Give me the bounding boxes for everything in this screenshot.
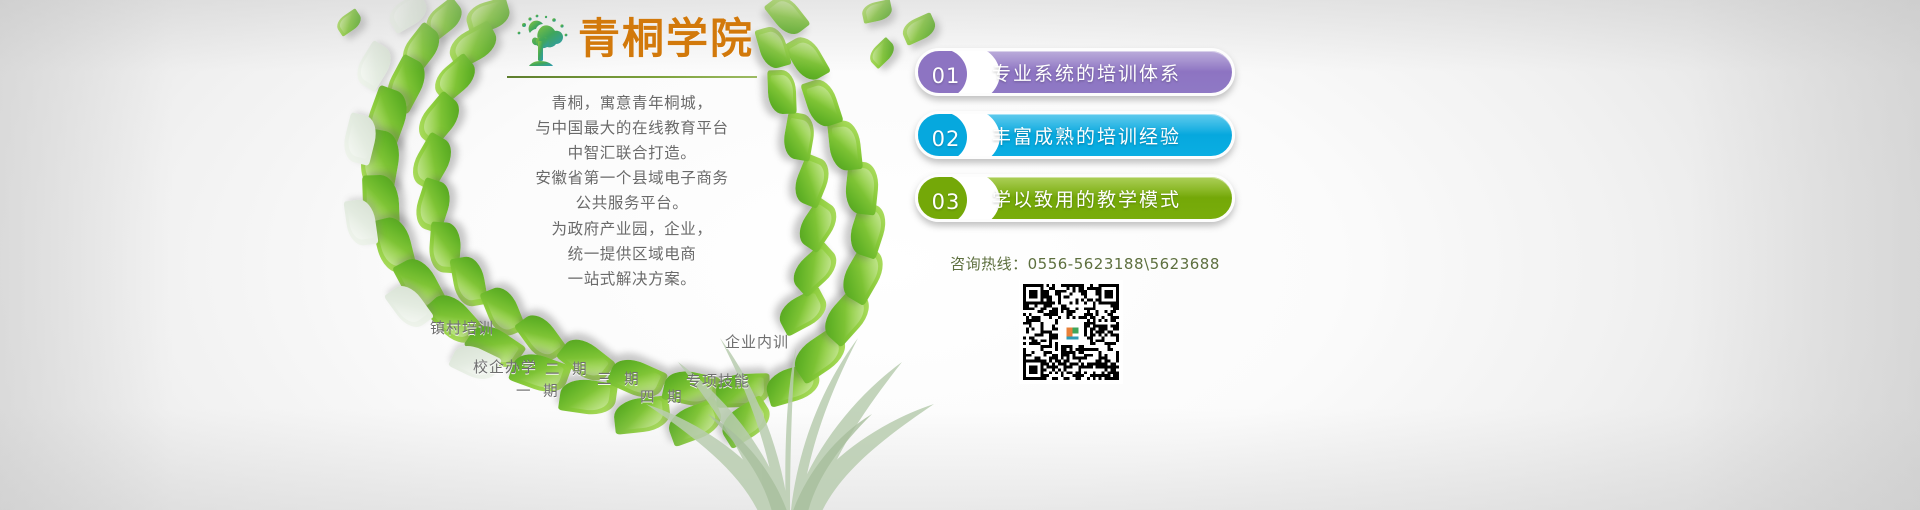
feature-item-03[interactable]: 03 学以致用的教学模式 [915, 174, 1235, 222]
promo-banner: 青桐学院 青桐，寓意青年桐城， 与中国最大的在线教育平台 中智汇联合打造。 安徽… [0, 0, 1920, 510]
stage-label-4: 三 期 [597, 368, 643, 389]
feature-label: 专业系统的培训体系 [992, 59, 1181, 86]
feature-number: 01 [926, 58, 966, 94]
wechat-qr-code[interactable] [1019, 280, 1123, 384]
leaf-icon [860, 0, 893, 24]
page-title: 青桐学院 [578, 18, 754, 60]
grass-tuft-icon [560, 330, 1020, 510]
leaf-icon [827, 119, 863, 172]
feature-number: 03 [926, 184, 966, 220]
stage-label-1: 校企办学 [473, 356, 537, 377]
stage-label-6: 专项技能 [686, 370, 750, 391]
feature-label: 丰富成熟的培训经验 [992, 122, 1181, 149]
stage-label-5: 四 期 [640, 386, 686, 407]
brand-block: 青桐学院 青桐，寓意青年桐城， 与中国最大的在线教育平台 中智汇联合打造。 安徽… [498, 8, 766, 292]
feature-list: 01 专业系统的培训体系 02 丰富成熟的培训经验 03 学以致用的教学模式 [915, 48, 1235, 237]
qr-canvas [1023, 284, 1119, 380]
stage-label-7: 企业内训 [725, 331, 789, 352]
stage-label-3: 二 期 [545, 358, 591, 379]
feature-item-01[interactable]: 01 专业系统的培训体系 [915, 48, 1235, 96]
brand-description: 青桐，寓意青年桐城， 与中国最大的在线教育平台 中智汇联合打造。 安徽省第一个县… [498, 91, 766, 292]
leaf-icon [767, 70, 797, 115]
feature-number: 02 [926, 121, 966, 157]
stage-label-2: 一 期 [516, 380, 562, 401]
hotline-text: 咨询热线：0556-5623188\5623688 [915, 253, 1255, 274]
leaf-icon [789, 153, 835, 209]
stage-label-0: 镇村培训 [430, 317, 494, 338]
feature-label: 学以致用的教学模式 [992, 185, 1181, 212]
leaf-icon [899, 12, 939, 46]
leaf-icon [866, 37, 899, 69]
title-divider [507, 76, 757, 78]
feature-item-02[interactable]: 02 丰富成熟的培训经验 [915, 111, 1235, 159]
tree-logo-icon [510, 11, 572, 67]
leaf-icon [333, 8, 364, 37]
